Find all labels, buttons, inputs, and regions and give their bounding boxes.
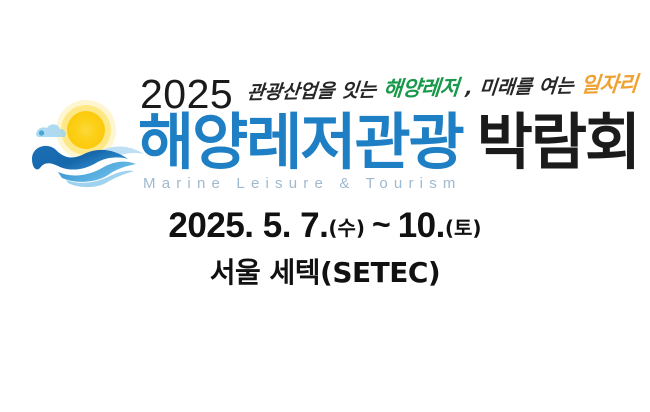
tagline: 관광산업을 잇는 해양레저 , 미래를 여는 일자리 — [246, 74, 638, 103]
event-venue: 서울 세텍(SETEC) — [0, 259, 650, 287]
title-primary: 해양레저관광 — [138, 112, 463, 173]
date-end: 10. — [398, 206, 445, 245]
sun-and-wave-logo — [22, 92, 152, 196]
event-date: 2025. 5. 7.(수)~10.(토) — [0, 208, 650, 245]
tagline-part-4: 일자리 — [580, 74, 638, 96]
date-separator: ~ — [365, 206, 398, 242]
english-subtitle: Marine Leisure & Tourism — [143, 176, 462, 191]
tagline-part-2: 해양레저 — [382, 78, 459, 101]
event-poster: 2025 관광산업을 잇는 해양레저 , 미래를 여는 일자리 해양레저관광 박… — [0, 0, 650, 412]
event-title: 해양레저관광 박람회 — [138, 112, 639, 173]
sun-icon — [67, 111, 105, 149]
date-start-day: (수) — [328, 216, 365, 240]
date-end-day: (토) — [445, 216, 482, 240]
date-start: 2025. 5. 7. — [168, 206, 328, 245]
tagline-part-3: , 미래를 여는 — [465, 77, 575, 98]
tagline-part-1: 관광산업을 잇는 — [246, 81, 377, 103]
title-secondary: 박람회 — [477, 112, 639, 173]
